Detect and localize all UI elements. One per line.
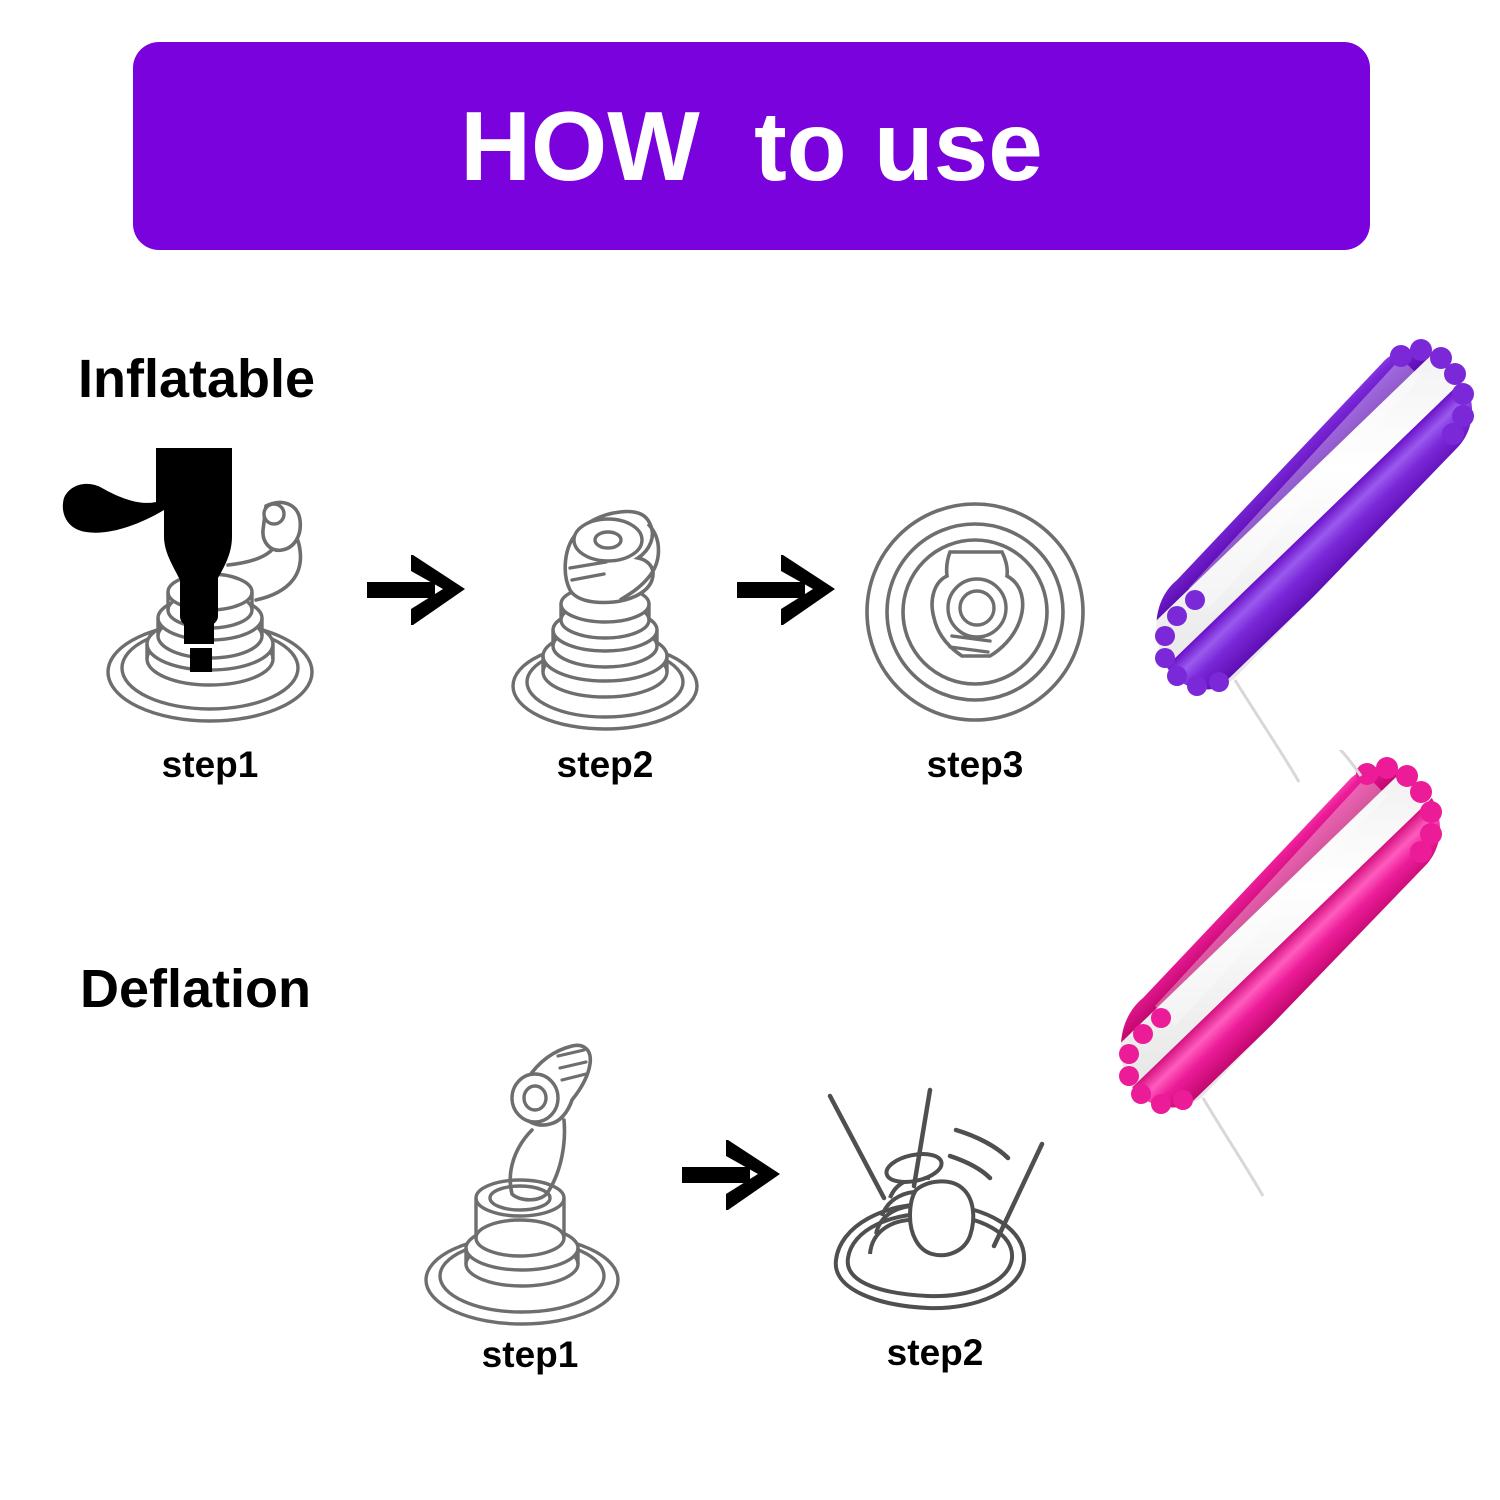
valve-cap-closing-icon — [480, 440, 730, 740]
arrow-deflation-1 — [660, 1020, 810, 1330]
arrow-right-icon — [682, 1132, 788, 1218]
section-heading-deflation: Deflation — [80, 962, 311, 1016]
product-pink-roller — [1075, 750, 1500, 1205]
arrow-inflatable-1 — [360, 440, 480, 740]
purple-striped-inflatable-roller-icon — [1085, 330, 1500, 790]
valve-closed-top-view-icon — [850, 440, 1100, 740]
infographic-page: HOW to use Inflatable — [0, 0, 1500, 1500]
step-label: step2 — [557, 746, 654, 783]
step-label: step1 — [482, 1336, 579, 1373]
step-cell-deflation-1: step1 — [400, 1020, 660, 1373]
page-title: HOW to use — [460, 97, 1043, 195]
step-label: step1 — [162, 746, 259, 783]
title-banner: HOW to use — [133, 42, 1370, 250]
inflatable-steps-row: step1 — [60, 440, 1100, 783]
step-cell-inflatable-1: step1 — [60, 440, 360, 783]
arrow-right-icon — [737, 547, 843, 633]
step-cell-inflatable-2: step2 — [480, 440, 730, 783]
step-label: step2 — [887, 1334, 984, 1371]
valve-cap-open-icon — [400, 1020, 660, 1330]
air-pump-in-valve-icon — [60, 440, 360, 740]
step-label: step3 — [927, 746, 1024, 783]
step-cell-deflation-2: step2 — [810, 1078, 1060, 1371]
step-cell-inflatable-3: step3 — [850, 440, 1100, 783]
product-purple-roller — [1085, 330, 1500, 795]
section-heading-inflatable: Inflatable — [78, 352, 315, 406]
deflation-steps-row: step1 — [400, 1020, 1060, 1373]
pink-striped-inflatable-roller-icon — [1075, 750, 1500, 1200]
arrow-right-icon — [367, 547, 473, 633]
hand-squeezing-valve-icon — [810, 1078, 1060, 1328]
arrow-inflatable-2 — [730, 440, 850, 740]
